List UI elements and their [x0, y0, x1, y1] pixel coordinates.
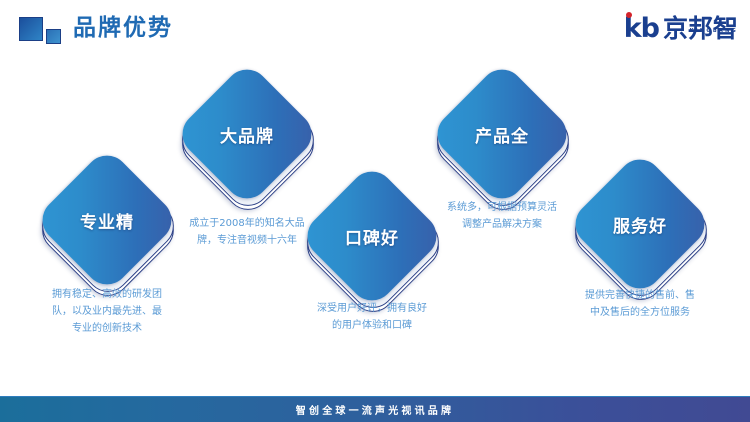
diamond-face — [298, 162, 445, 309]
page-footer: 智创全球一流声光视讯品牌 — [0, 397, 750, 422]
diamond-shape-1[interactable]: 专业精 — [55, 168, 159, 272]
diamond-shape-4[interactable]: 产品全 — [450, 82, 554, 186]
advantage-desc-3: 深受用户好评，拥有良好 的用户体验和口碑 — [282, 300, 462, 334]
page-title: 品牌优势 — [73, 13, 173, 43]
square-icon-large — [19, 17, 43, 41]
advantage-desc-5: 提供完善快捷的售前、售 中及售后的全方位服务 — [550, 287, 730, 321]
advantage-desc-4: 系统多，可根据预算灵活 调整产品解决方案 — [412, 199, 592, 233]
diamond-shape-3[interactable]: 口碑好 — [320, 184, 424, 288]
advantage-desc-1: 拥有稳定、高效的研发团 队，以及业内最先进、最 专业的创新技术 — [17, 286, 197, 337]
page-header: 品牌优势 kb 京邦智 KINGBANG — [0, 0, 750, 62]
diamond-face — [173, 60, 320, 207]
logo-english-text: KINGBANG — [690, 18, 738, 44]
logo-mark-kb: kb — [624, 15, 659, 43]
diamond-shape-2[interactable]: 大品牌 — [195, 82, 299, 186]
diamond-shape-5[interactable]: 服务好 — [588, 172, 692, 276]
brand-logo: kb 京邦智 KINGBANG — [624, 12, 738, 46]
diamond-face — [428, 60, 575, 207]
logo-chinese-name: 京邦智 KINGBANG — [663, 16, 738, 42]
logo-dot-icon — [626, 12, 632, 18]
square-icon-small — [46, 29, 61, 44]
footer-slogan: 智创全球一流声光视讯品牌 — [296, 402, 454, 417]
diamond-face — [566, 150, 713, 297]
